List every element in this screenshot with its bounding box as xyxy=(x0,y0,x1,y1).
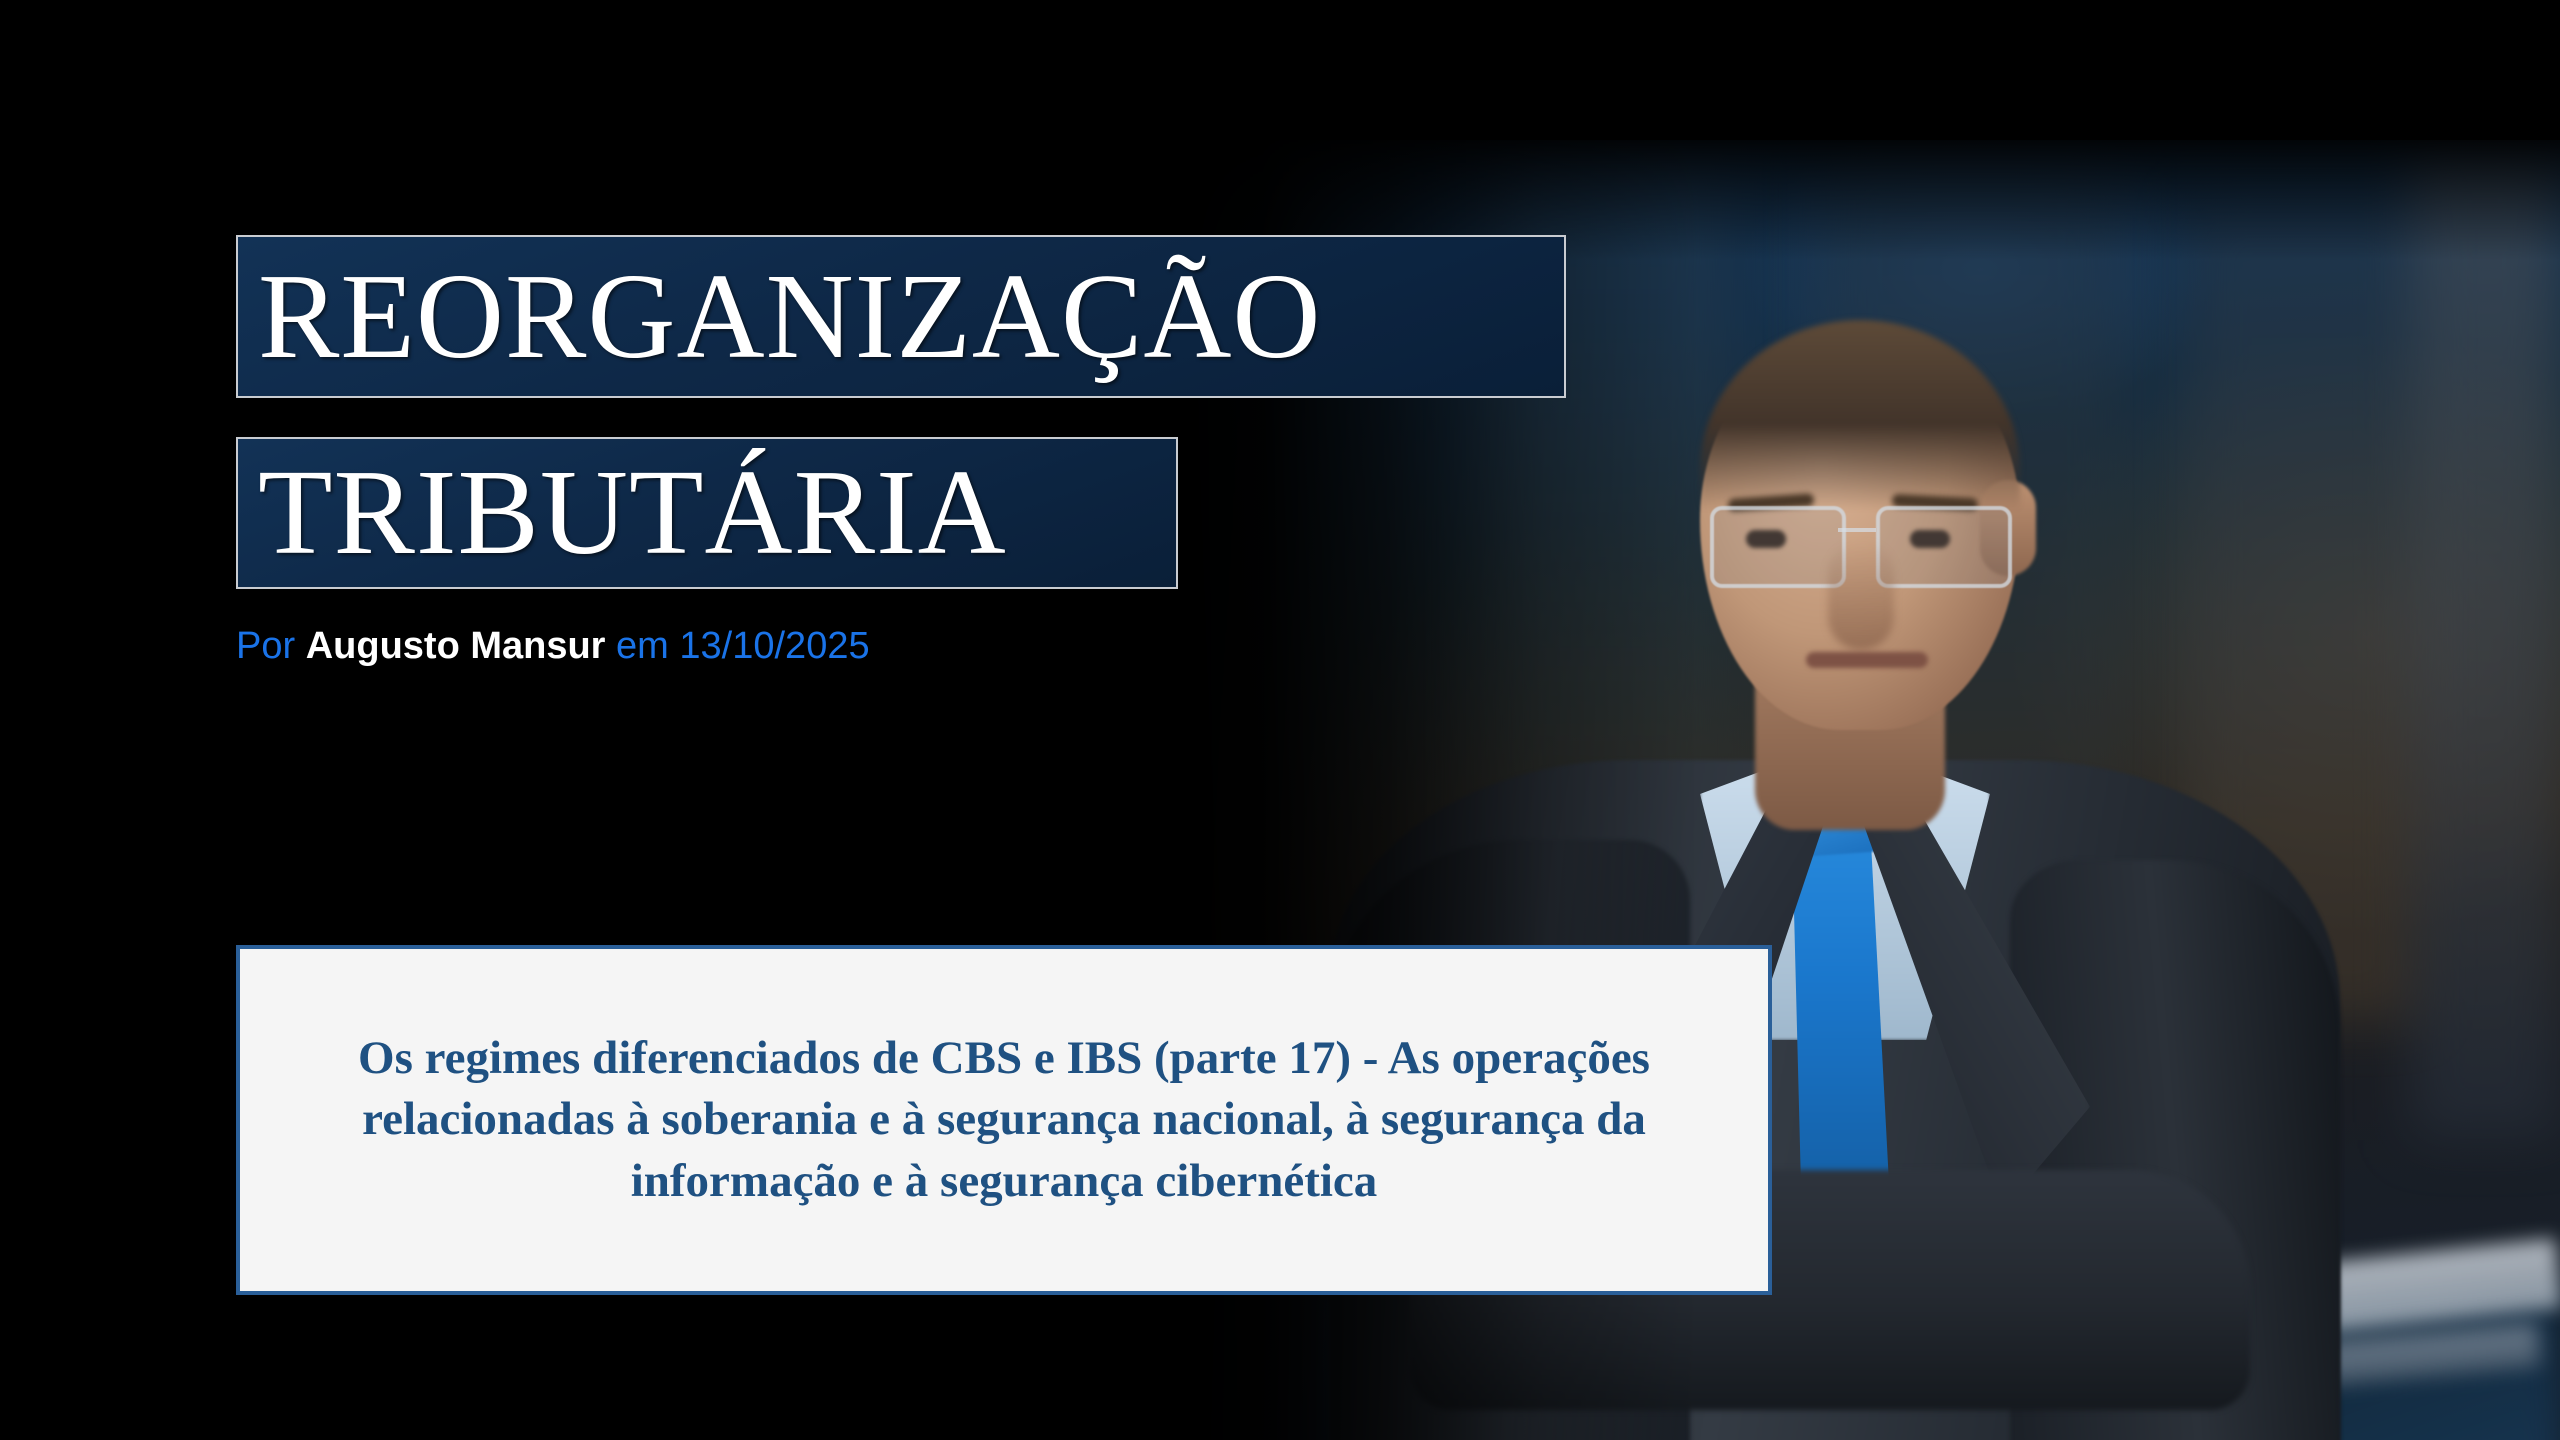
byline-connector: em xyxy=(616,625,669,667)
page-title-line-2: TRIBUTÁRIA xyxy=(258,452,1007,574)
mouth xyxy=(1806,652,1928,668)
byline-space-2 xyxy=(605,625,616,667)
byline-space-3 xyxy=(669,625,680,667)
eyeglass-bridge xyxy=(1838,528,1876,532)
title-bar-line-2: TRIBUTÁRIA xyxy=(236,437,1178,589)
byline-space-1 xyxy=(295,625,306,667)
title-bar-line-1: REORGANIZAÇÃO xyxy=(236,235,1566,398)
black-top-bar xyxy=(0,0,2560,140)
page-title-line-1: REORGANIZAÇÃO xyxy=(258,256,1322,378)
byline: Por Augusto Mansur em 13/10/2025 xyxy=(236,622,870,670)
subtitle-card: Os regimes diferenciados de CBS e IBS (p… xyxy=(236,945,1772,1295)
article-subtitle: Os regimes diferenciados de CBS e IBS (p… xyxy=(266,1028,1742,1211)
banner-canvas: REORGANIZAÇÃO TRIBUTÁRIA Por Augusto Man… xyxy=(0,0,2560,1440)
byline-author: Augusto Mansur xyxy=(306,625,606,667)
nose xyxy=(1828,540,1894,650)
byline-date: 13/10/2025 xyxy=(679,625,869,667)
hair xyxy=(1700,320,2020,510)
eyeglass-lens-left xyxy=(1710,506,1846,588)
byline-prefix: Por xyxy=(236,625,295,667)
eyeglass-lens-right xyxy=(1876,506,2012,588)
